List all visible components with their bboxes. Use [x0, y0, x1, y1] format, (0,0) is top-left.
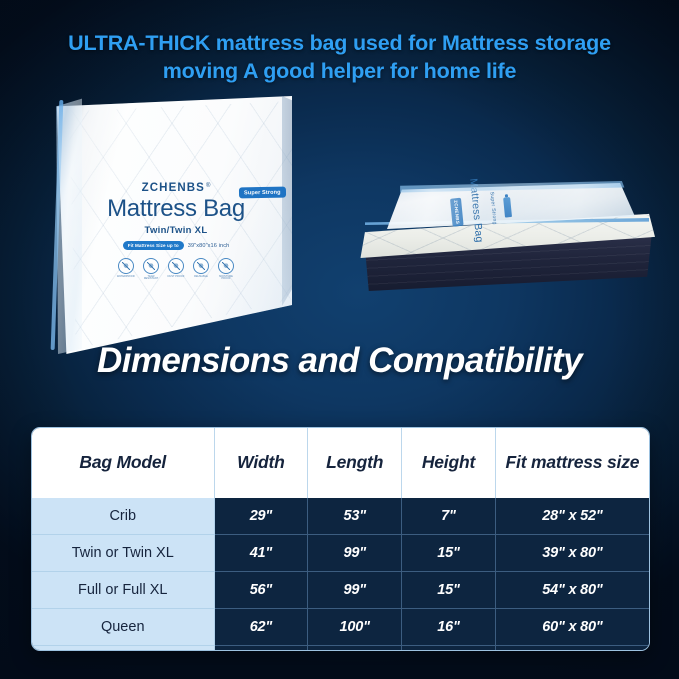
- cell-width: 78": [214, 646, 308, 652]
- dust-proof-icon: [168, 258, 184, 274]
- cell-height: 15": [402, 572, 496, 609]
- table-row: Queen 62" 100" 16" 60" x 80": [32, 609, 649, 646]
- feature-caption: DUST PROOF: [166, 276, 186, 279]
- bag-title: Mattress Bag: [107, 195, 245, 222]
- column-header-width: Width: [214, 428, 308, 498]
- cell-fit-size: 39" x 80": [495, 535, 649, 572]
- feature-item: MOISTURE PROOF: [216, 258, 236, 281]
- size-value: 39"x80"x16 inch: [188, 243, 230, 249]
- cell-fit-size: 76" x 84": [495, 646, 649, 652]
- moisture-proof-icon: [218, 258, 234, 274]
- column-header-length: Length: [308, 428, 402, 498]
- infographic-page: ULTRA-THICK mattress bag used for Mattre…: [0, 0, 679, 679]
- cell-height: 15": [402, 535, 496, 572]
- cell-width: 29": [214, 498, 308, 535]
- cell-length: 104": [308, 646, 402, 652]
- section-heading: Dimensions and Compatibility: [0, 341, 679, 381]
- size-pill-label: Fit Mattress Size up to: [123, 241, 184, 250]
- cell-width: 56": [214, 572, 308, 609]
- cell-fit-size: 28" x 52": [495, 498, 649, 535]
- reusable-icon: [193, 258, 209, 274]
- table-row: Twin or Twin XL 41" 99" 15" 39" x 80": [32, 535, 649, 572]
- feature-item: DUST PROOF: [166, 258, 186, 281]
- column-header-fit-size: Fit mattress size: [495, 428, 649, 498]
- headline-line-2: moving A good helper for home life: [0, 58, 679, 86]
- cell-bag-model: Full or Full XL: [32, 572, 214, 609]
- cell-bag-model: King or California King: [32, 646, 214, 652]
- brand-registered-mark: ®: [206, 183, 210, 189]
- bag-title-row: Mattress Bag Super Strong: [88, 195, 264, 223]
- cell-bag-model: Twin or Twin XL: [32, 535, 214, 572]
- cell-height: 16": [402, 609, 496, 646]
- feature-icon-row: WATERPROOF TEAR RESISTANT DUST PROOF REU…: [88, 258, 264, 281]
- cell-length: 99": [308, 535, 402, 572]
- column-header-bag-model: Bag Model: [32, 428, 214, 498]
- table-body: Crib 29" 53" 7" 28" x 52" Twin or Twin X…: [32, 498, 649, 651]
- feature-item: TEAR RESISTANT: [141, 258, 161, 281]
- table-header-row: Bag Model Width Length Height Fit mattre…: [32, 428, 649, 498]
- cell-bag-model: Queen: [32, 609, 214, 646]
- product-image-standing-bag: ZCHENBS ® Mattress Bag Super Strong Twin…: [52, 96, 292, 354]
- bag-size-strip: Fit Mattress Size up to 39"x80"x16 inch: [88, 241, 264, 250]
- bag-size-subtitle: Twin/Twin XL: [88, 225, 264, 236]
- cell-fit-size: 60" x 80": [495, 609, 649, 646]
- table-header: Bag Model Width Length Height Fit mattre…: [32, 428, 649, 498]
- column-header-height: Height: [402, 428, 496, 498]
- cell-length: 53": [308, 498, 402, 535]
- table-row: Full or Full XL 56" 99" 15" 54" x 80": [32, 572, 649, 609]
- feature-caption: TEAR RESISTANT: [141, 276, 161, 282]
- feature-caption: REUSABLE: [191, 276, 211, 279]
- cell-bag-model: Crib: [32, 498, 214, 535]
- dimensions-table-card: Bag Model Width Length Height Fit mattre…: [31, 427, 650, 651]
- cell-height: 16": [402, 646, 496, 652]
- cell-length: 100": [308, 609, 402, 646]
- feature-caption: WATERPROOF: [116, 276, 136, 279]
- headline: ULTRA-THICK mattress bag used for Mattre…: [0, 30, 679, 85]
- product-image-mattress-in-bag: ZCHENBS Mattress Bag Super Strong: [355, 172, 660, 307]
- feature-caption: MOISTURE PROOF: [216, 276, 236, 282]
- feature-item: REUSABLE: [191, 258, 211, 281]
- table-row: Crib 29" 53" 7" 28" x 52": [32, 498, 649, 535]
- cell-width: 41": [214, 535, 308, 572]
- cell-height: 7": [402, 498, 496, 535]
- super-strong-badge: Super Strong: [239, 187, 286, 199]
- cell-width: 62": [214, 609, 308, 646]
- cell-fit-size: 54" x 80": [495, 572, 649, 609]
- bag-label: ZCHENBS ® Mattress Bag Super Strong Twin…: [88, 182, 264, 281]
- cell-length: 99": [308, 572, 402, 609]
- headline-line-1: ULTRA-THICK mattress bag used for Mattre…: [0, 30, 679, 58]
- brand-name: ZCHENBS: [142, 182, 205, 194]
- feature-item: WATERPROOF: [116, 258, 136, 281]
- dimensions-table: Bag Model Width Length Height Fit mattre…: [32, 428, 649, 651]
- brand-row: ZCHENBS ®: [88, 182, 264, 194]
- tear-resistant-icon: [143, 258, 159, 274]
- waterproof-icon: [118, 258, 134, 274]
- table-row: King or California King 78" 104" 16" 76"…: [32, 646, 649, 652]
